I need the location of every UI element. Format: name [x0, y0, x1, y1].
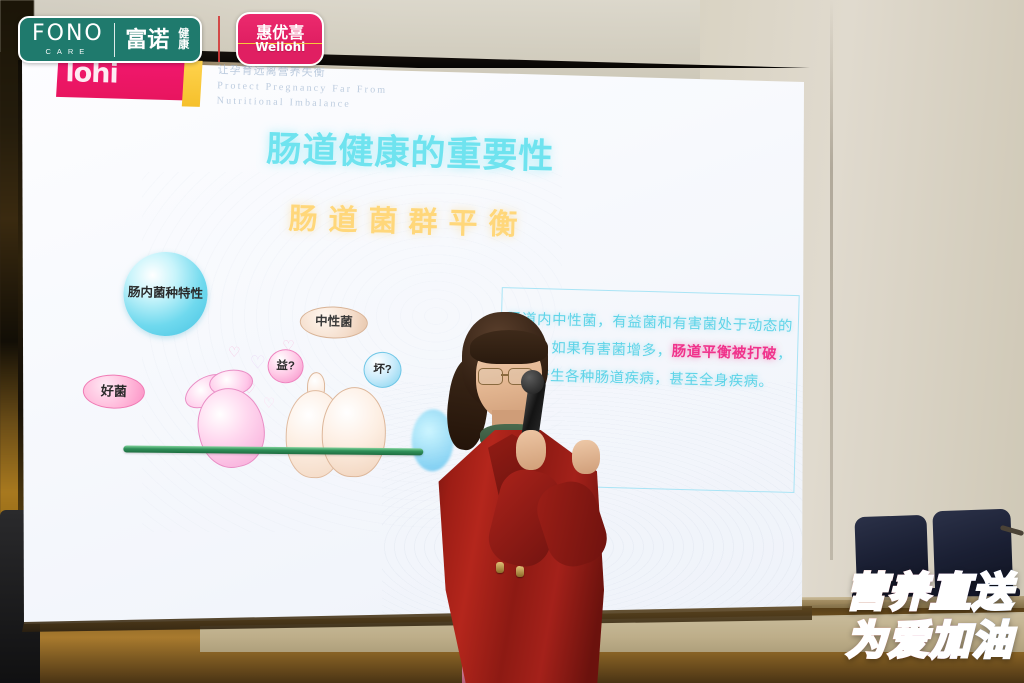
- fono-wordmark-block: FONO CARE: [32, 23, 104, 56]
- slide-banner-subtext: 让孕育远离营养失衡 Protect Pregnancy Far From Nut…: [217, 63, 458, 114]
- tug-of-war-rope: [123, 446, 423, 456]
- heart-decor-5: ♡: [262, 395, 275, 412]
- watermark-line-1: 营养直送: [846, 569, 1014, 617]
- fono-chinese-stack-top: 健: [178, 29, 189, 40]
- fono-tagline: CARE: [45, 48, 90, 56]
- logo-divider: [114, 23, 116, 57]
- bubble-good-bacteria: 好菌: [82, 374, 145, 410]
- slide-subtitle: 肠道菌群平衡: [17, 188, 800, 251]
- wellohi-english-name: Wellohi: [238, 40, 322, 54]
- heart-decor-1: ♡: [228, 344, 241, 361]
- microphone-head: [521, 370, 544, 394]
- body-text-highlight: 肠道平衡被打破: [672, 344, 778, 363]
- fono-chinese-name: 富诺: [125, 29, 169, 51]
- watermark: 营养直送 为爱加油: [846, 569, 1014, 665]
- logo-separator: [218, 16, 220, 62]
- speaker-glasses-left-lens: [478, 368, 503, 385]
- watermark-line-2: 为爱加油: [846, 617, 1014, 665]
- fono-care-logo: FONO CARE 富诺 健 康: [18, 16, 202, 63]
- cartoon-neutral-bacteria-b: [321, 386, 387, 478]
- heart-decor-3: ♡: [282, 337, 295, 354]
- speaker-glasses-bridge: [501, 374, 508, 376]
- slide-banner-yellow-accent: [182, 60, 203, 106]
- speaker-coat-button-4: [516, 566, 524, 577]
- fono-chinese-stack-bottom: 康: [178, 40, 189, 51]
- logo-bar: FONO CARE 富诺 健 康 惠优喜 Wellohi: [18, 12, 324, 66]
- bubble-harm-question: 坏?: [363, 351, 402, 388]
- fono-chinese-stack: 健 康: [178, 29, 189, 51]
- heart-decor-2: ♡: [249, 352, 266, 373]
- wall-corner: [830, 0, 833, 560]
- speaker-hand-holding-mic: [516, 430, 546, 470]
- photo-scene: lohi 让孕育远离营养失衡 Protect Pregnancy Far Fro…: [0, 0, 1024, 683]
- slide-title: 肠道健康的重要性: [19, 114, 802, 186]
- bubble-characteristics: 肠内菌种特性: [122, 251, 208, 337]
- fono-wordmark: FONO: [32, 23, 104, 45]
- speaker: [418, 312, 638, 683]
- wellohi-logo: 惠优喜 Wellohi: [236, 12, 324, 66]
- slide-content: lohi 让孕育远离营养失衡 Protect Pregnancy Far Fro…: [7, 52, 804, 645]
- speaker-fringe: [470, 330, 548, 364]
- speaker-coat-button-3: [496, 562, 504, 573]
- bubble-neutral-bacteria: 中性菌: [299, 306, 368, 340]
- speaker-gesturing-hand: [572, 440, 600, 474]
